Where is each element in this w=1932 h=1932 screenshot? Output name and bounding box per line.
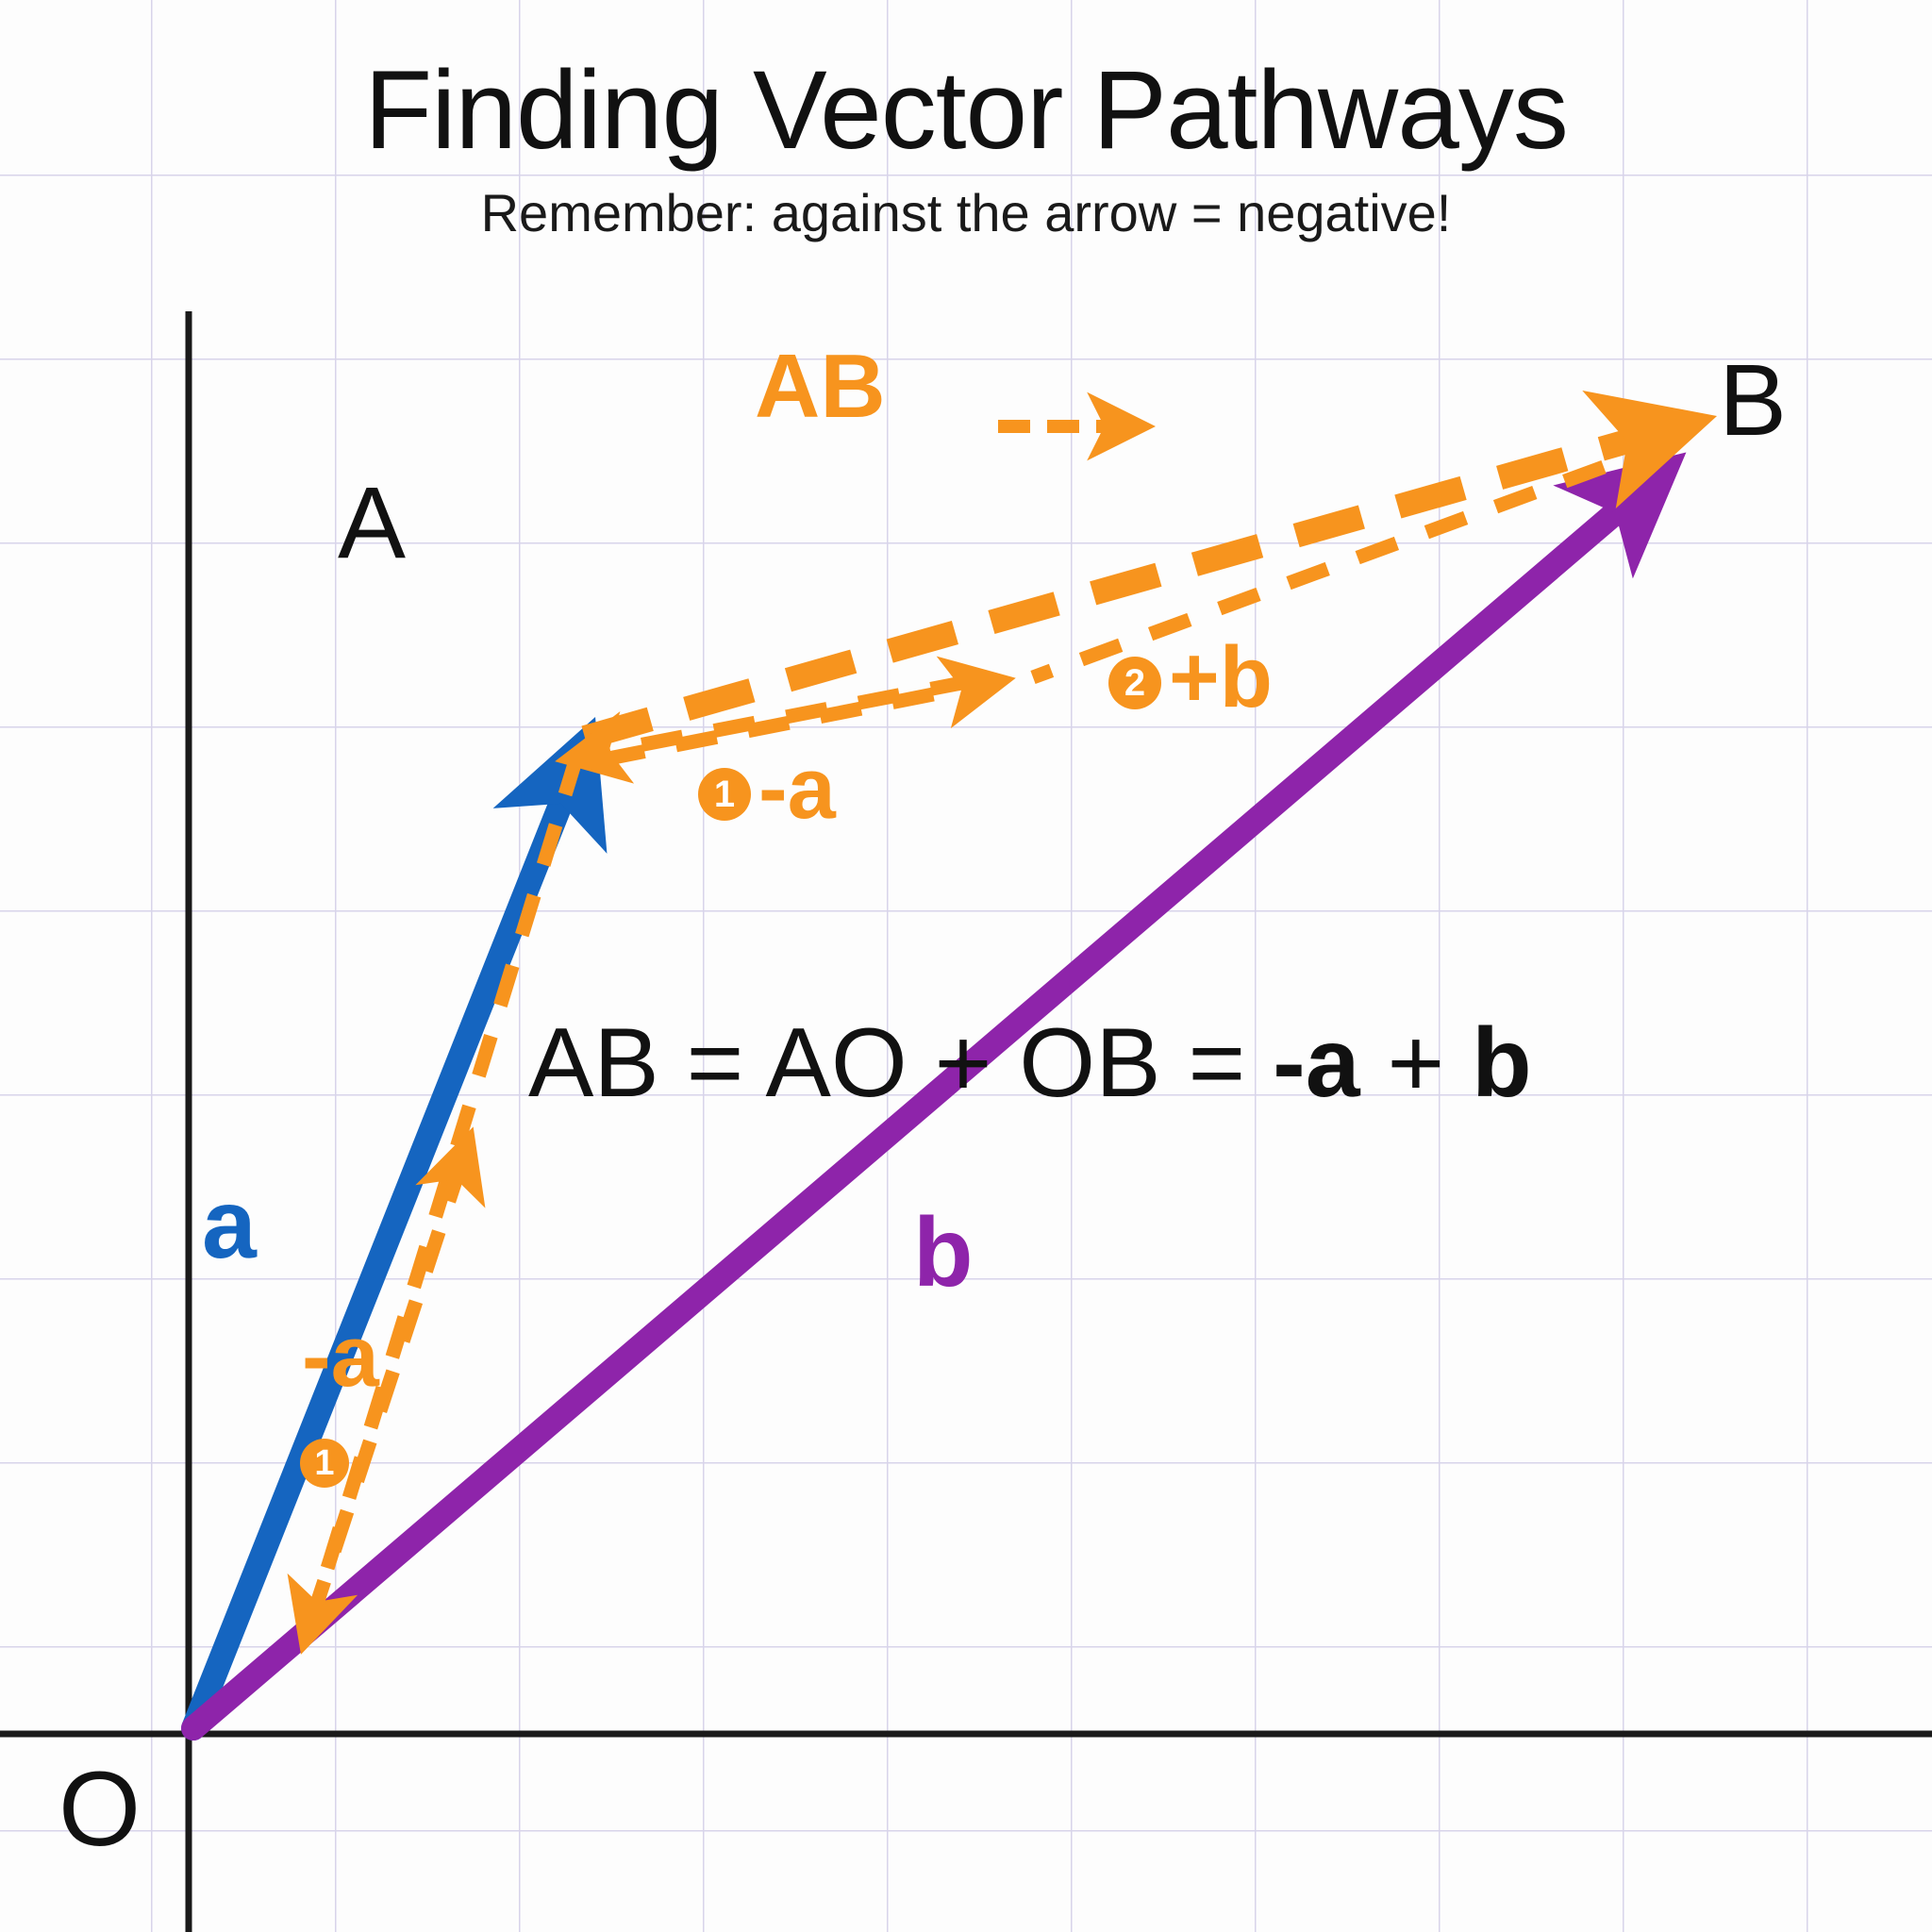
point-label-o: O xyxy=(58,1757,141,1862)
point-label-b: B xyxy=(1719,349,1787,451)
annotation-step1-top: 1-a xyxy=(698,745,836,832)
vector-layer xyxy=(0,0,1932,1932)
page-title: Finding Vector Pathways xyxy=(0,55,1932,166)
diagram-canvas: Finding Vector Pathways Remember: agains… xyxy=(0,0,1932,1932)
annotation-step2: 2+b xyxy=(1108,634,1273,721)
vector-label-ab: AB xyxy=(755,341,886,432)
annotation-step1-side: -a xyxy=(302,1313,379,1400)
point-label-a: A xyxy=(338,472,406,574)
step2-badge: 2 xyxy=(1108,657,1161,709)
vector-label-b: b xyxy=(913,1204,974,1302)
vector-label-a: a xyxy=(202,1175,257,1274)
equation-term2: b xyxy=(1472,1008,1532,1118)
equation-lhs: AB = AO + OB = xyxy=(528,1008,1273,1118)
page-subtitle: Remember: against the arrow = negative! xyxy=(0,187,1932,240)
step1-badge: 1 xyxy=(698,768,751,821)
step1-side-text: -a xyxy=(302,1308,379,1405)
step1-text: -a xyxy=(758,741,836,837)
equation-text: AB = AO + OB = -a + b xyxy=(528,1014,1532,1112)
equation-term1: -a xyxy=(1273,1008,1359,1118)
annotation-step1-side-badge: 1 xyxy=(300,1413,357,1500)
step1-side-badge: 1 xyxy=(300,1439,349,1488)
step2-text: +b xyxy=(1169,629,1273,725)
equation-operator: + xyxy=(1360,1008,1473,1118)
